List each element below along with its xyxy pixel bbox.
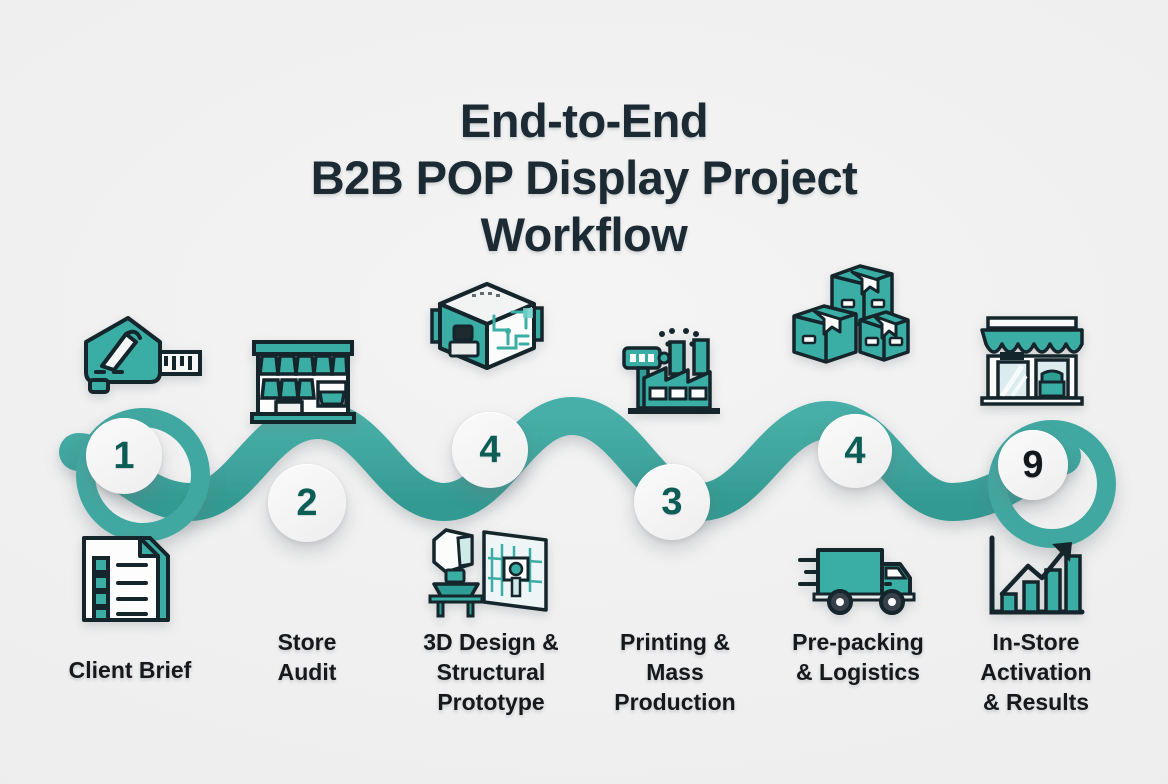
step-number-2: 2 <box>296 484 317 522</box>
retail-shop-awning-icon <box>974 312 1090 408</box>
step-label-6-line-2: Activation <box>928 657 1144 687</box>
step-number-3: 4 <box>479 431 500 469</box>
factory-icon <box>612 322 734 418</box>
storefront-building-icon <box>248 336 358 424</box>
stacked-boxes-icon <box>786 258 914 370</box>
delivery-truck-icon <box>796 538 916 616</box>
step-node-4[interactable]: 3 <box>634 464 710 540</box>
isometric-3d-box-icon <box>424 278 550 374</box>
step-node-2[interactable]: 2 <box>268 464 346 542</box>
title-line-1: End-to-End <box>0 92 1168 149</box>
3d-printer-blueprint-icon <box>426 522 550 620</box>
title-line-3: Workflow <box>0 206 1168 263</box>
step-node-1[interactable]: 1 <box>86 418 162 494</box>
step-number-5: 4 <box>844 432 865 470</box>
title-line-2: B2B POP Display Project <box>0 149 1168 206</box>
step-number-1: 1 <box>113 437 134 475</box>
step-label-6: In-Store Activation & Results <box>928 627 1144 717</box>
step-label-6-line-3: & Results <box>928 687 1144 717</box>
wave-ribbon-stroke <box>78 416 1062 502</box>
step-node-6[interactable]: 9 <box>998 430 1068 500</box>
step-number-4: 3 <box>661 483 682 521</box>
checklist-document-icon <box>78 532 174 626</box>
measuring-tape-icon <box>64 312 204 398</box>
growth-bar-chart-icon <box>982 532 1088 620</box>
step-number-6: 9 <box>1022 446 1043 484</box>
step-node-3[interactable]: 4 <box>452 412 528 488</box>
step-node-5[interactable]: 4 <box>818 414 892 488</box>
page-title: End-to-End B2B POP Display Project Workf… <box>0 92 1168 263</box>
step-label-6-line-1: In-Store <box>928 627 1144 657</box>
step-label-4-line-3: Production <box>565 687 785 717</box>
infographic-canvas: End-to-End B2B POP Display Project Workf… <box>0 0 1168 784</box>
